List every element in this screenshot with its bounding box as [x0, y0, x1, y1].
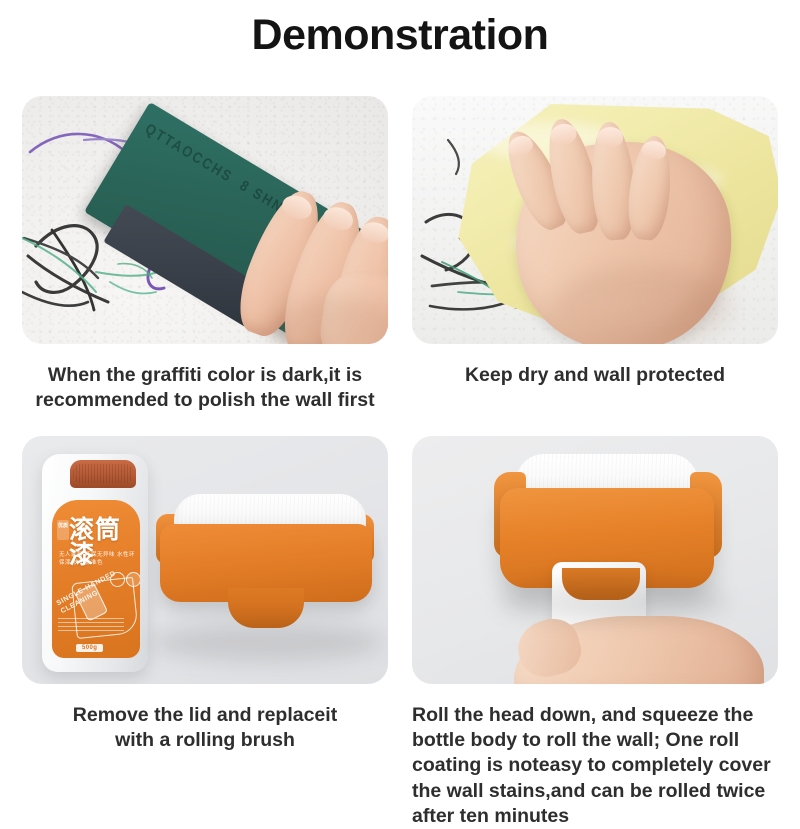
- step-3-caption: Remove the lid and replaceit with a roll…: [22, 703, 388, 754]
- roller-neck: [228, 588, 304, 628]
- cap-ribbing: [73, 464, 133, 483]
- label-icon-circle: [126, 572, 140, 587]
- label-badge: 优质: [57, 520, 69, 540]
- step-4: Roll the head down, and squeeze the bott…: [412, 436, 778, 829]
- wiping-wall-with-cloth-photo: [412, 96, 778, 344]
- roller-neck: [562, 568, 640, 600]
- step-3: 优质 滚筒漆 无人家居 环保无异味 水性环保漆 快干标准色 SINGLE-HAN…: [22, 436, 388, 829]
- label-icon-circle: [110, 572, 125, 587]
- bottle-label: 优质 滚筒漆 无人家居 环保无异味 水性环保漆 快干标准色 SINGLE-HAN…: [52, 500, 140, 658]
- label-fine-print: [58, 618, 124, 634]
- step-2: Keep dry and wall protected: [412, 96, 778, 414]
- paint-bottle: 优质 滚筒漆 无人家居 环保无异味 水性环保漆 快干标准色 SINGLE-HAN…: [42, 454, 148, 672]
- label-weight: 500g: [76, 644, 103, 652]
- steps-row-top: QTTAOCCHS 8 SHN When the graffiti color …: [0, 96, 800, 414]
- steps-row-bottom: 优质 滚筒漆 无人家居 环保无异味 水性环保漆 快干标准色 SINGLE-HAN…: [0, 436, 800, 829]
- step-1: QTTAOCCHS 8 SHN When the graffiti color …: [22, 96, 388, 414]
- bottle-and-roller-head-photo: 优质 滚筒漆 无人家居 环保无异味 水性环保漆 快干标准色 SINGLE-HAN…: [22, 436, 388, 684]
- step-4-caption: Roll the head down, and squeeze the bott…: [412, 703, 778, 829]
- page-title: Demonstration: [0, 0, 800, 57]
- step-1-caption: When the graffiti color is dark,it is re…: [22, 363, 388, 414]
- step-2-caption: Keep dry and wall protected: [412, 363, 778, 388]
- rolling-wall-with-brush-photo: [412, 436, 778, 684]
- demonstration-steps-grid: QTTAOCCHS 8 SHN When the graffiti color …: [0, 96, 800, 829]
- sanding-block-on-graffiti-wall-photo: QTTAOCCHS 8 SHN: [22, 96, 388, 344]
- bottle-cap: [70, 460, 136, 488]
